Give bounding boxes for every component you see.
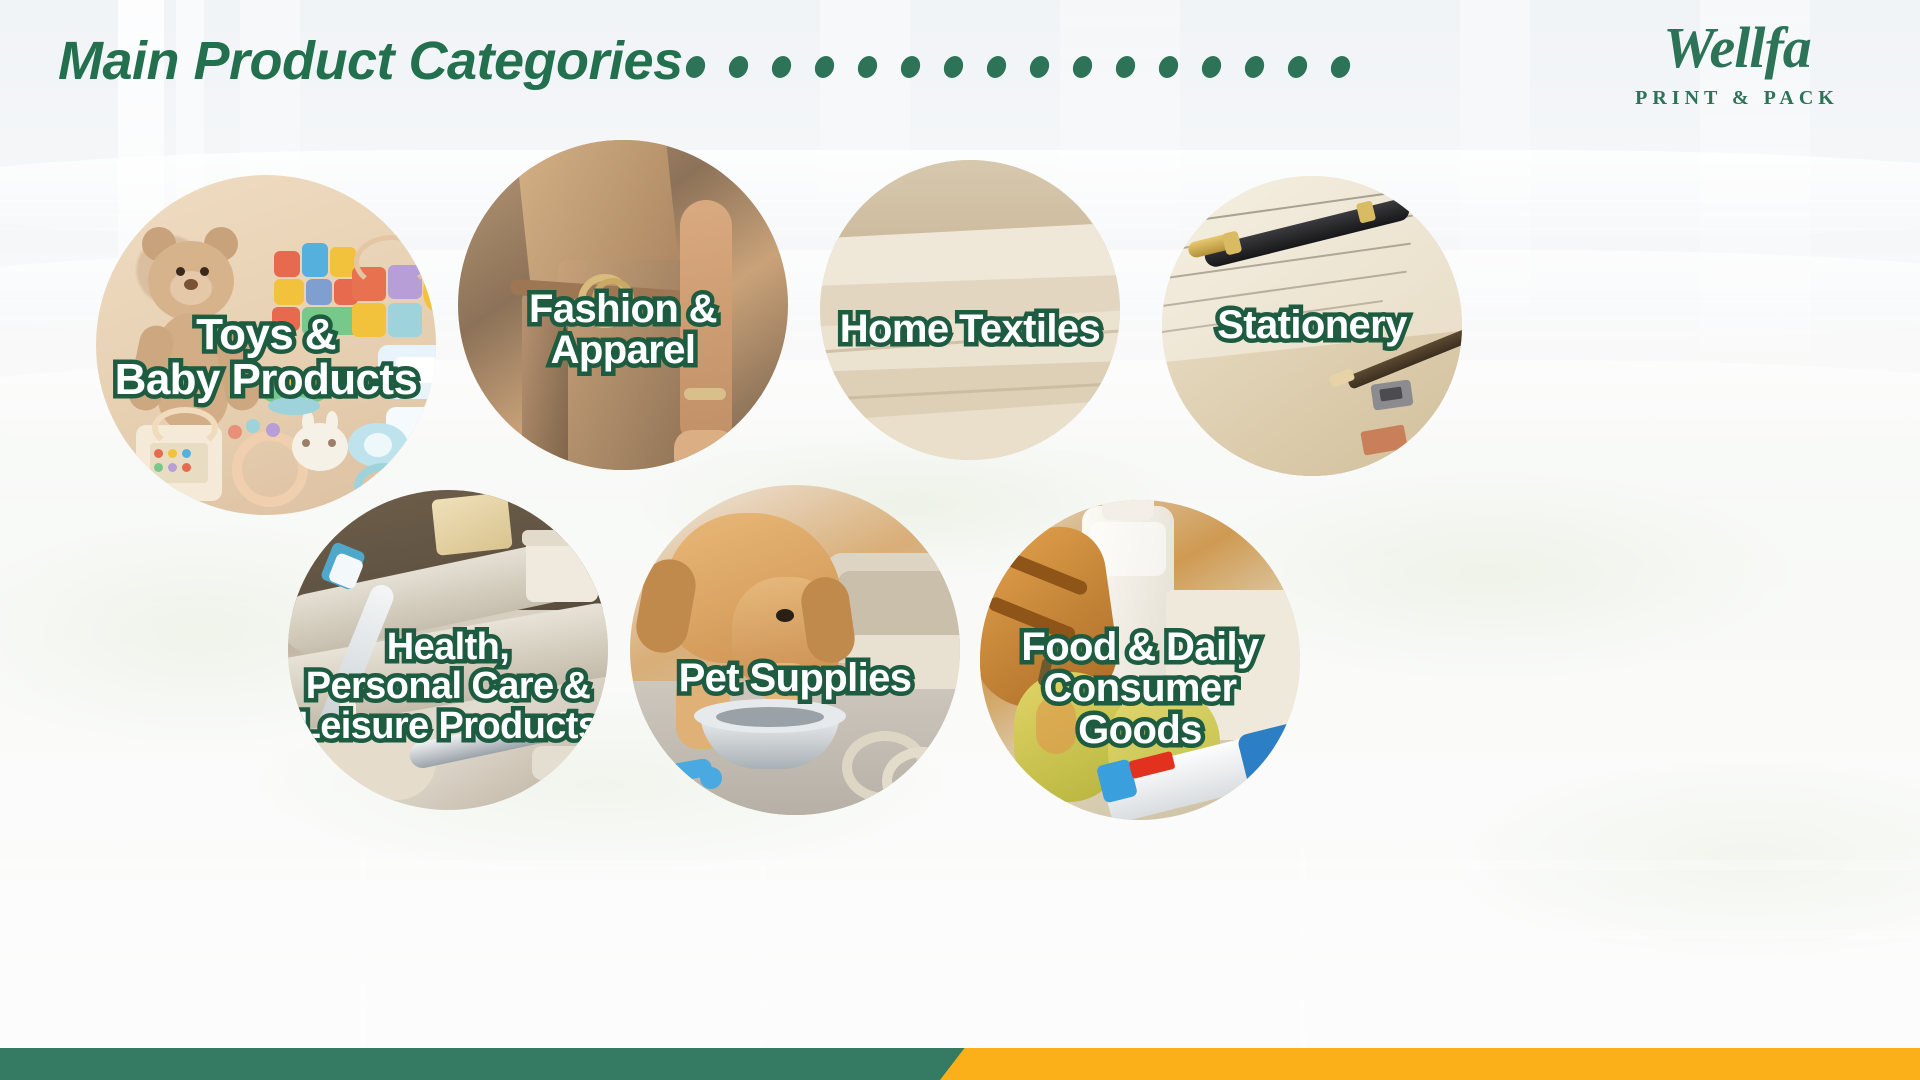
decorative-dot — [1114, 56, 1136, 78]
decorative-dot — [856, 56, 878, 78]
brand-logo: Wellfa PRINT & PACK — [1602, 18, 1872, 110]
decorative-dot — [684, 56, 706, 78]
decorative-dot-row — [686, 56, 1350, 78]
category-card-health-personal-care-leisure[interactable]: Health, Personal Care & Leisure Products… — [288, 490, 608, 810]
decorative-dot — [727, 56, 749, 78]
decorative-dot — [1286, 56, 1308, 78]
decorative-dot — [1028, 56, 1050, 78]
category-card-pet-supplies[interactable]: Pet Supplies Pet Supplies — [630, 485, 960, 815]
category-label-health-personal-care-leisure: Health, Personal Care & Leisure Products — [298, 628, 599, 745]
slide-root: Main Product Categories Wellfa PRINT & P… — [0, 0, 1920, 1080]
category-label-stationery: Stationery — [1217, 305, 1407, 346]
decorative-dot — [1200, 56, 1222, 78]
footer-bar-green-segment — [0, 1048, 980, 1080]
category-card-fashion-apparel[interactable]: Fashion & Apparel Fashion & Apparel — [458, 140, 788, 470]
category-card-home-textiles[interactable]: Home Textiles Home Textiles — [820, 160, 1120, 460]
category-label-home-textiles: Home Textiles — [840, 309, 1100, 350]
category-card-food-daily-consumer-goods[interactable]: Food & Daily Consumer Goods Food & Daily… — [980, 500, 1300, 820]
category-label-food-daily-consumer-goods: Food & Daily Consumer Goods — [980, 627, 1300, 751]
category-image-pet-supplies — [630, 485, 960, 815]
category-card-stationery[interactable]: Stationery Stationery — [1162, 176, 1462, 476]
decorative-dot — [942, 56, 964, 78]
decorative-dot — [899, 56, 921, 78]
logo-tagline: PRINT & PACK — [1602, 87, 1872, 110]
decorative-dot — [770, 56, 792, 78]
decorative-dot — [813, 56, 835, 78]
decorative-dot — [1157, 56, 1179, 78]
footer-bar-orange-segment — [940, 1048, 1920, 1080]
decorative-dot — [1243, 56, 1265, 78]
category-label-toys-baby-products: Toys & Baby Products — [115, 312, 418, 403]
category-label-fashion-apparel: Fashion & Apparel — [529, 289, 717, 371]
category-label-pet-supplies: Pet Supplies — [679, 658, 912, 699]
decorative-dot — [985, 56, 1007, 78]
page-title: Main Product Categories — [58, 30, 683, 92]
decorative-dot — [1071, 56, 1093, 78]
footer-bar — [0, 1048, 1920, 1080]
header: Main Product Categories Wellfa PRINT & P… — [0, 0, 1920, 150]
decorative-dot — [1329, 56, 1351, 78]
logo-wordmark: Wellfa — [1602, 18, 1872, 78]
category-card-toys-baby-products[interactable]: Toys & Baby Products Toys & Baby Product… — [96, 175, 436, 515]
